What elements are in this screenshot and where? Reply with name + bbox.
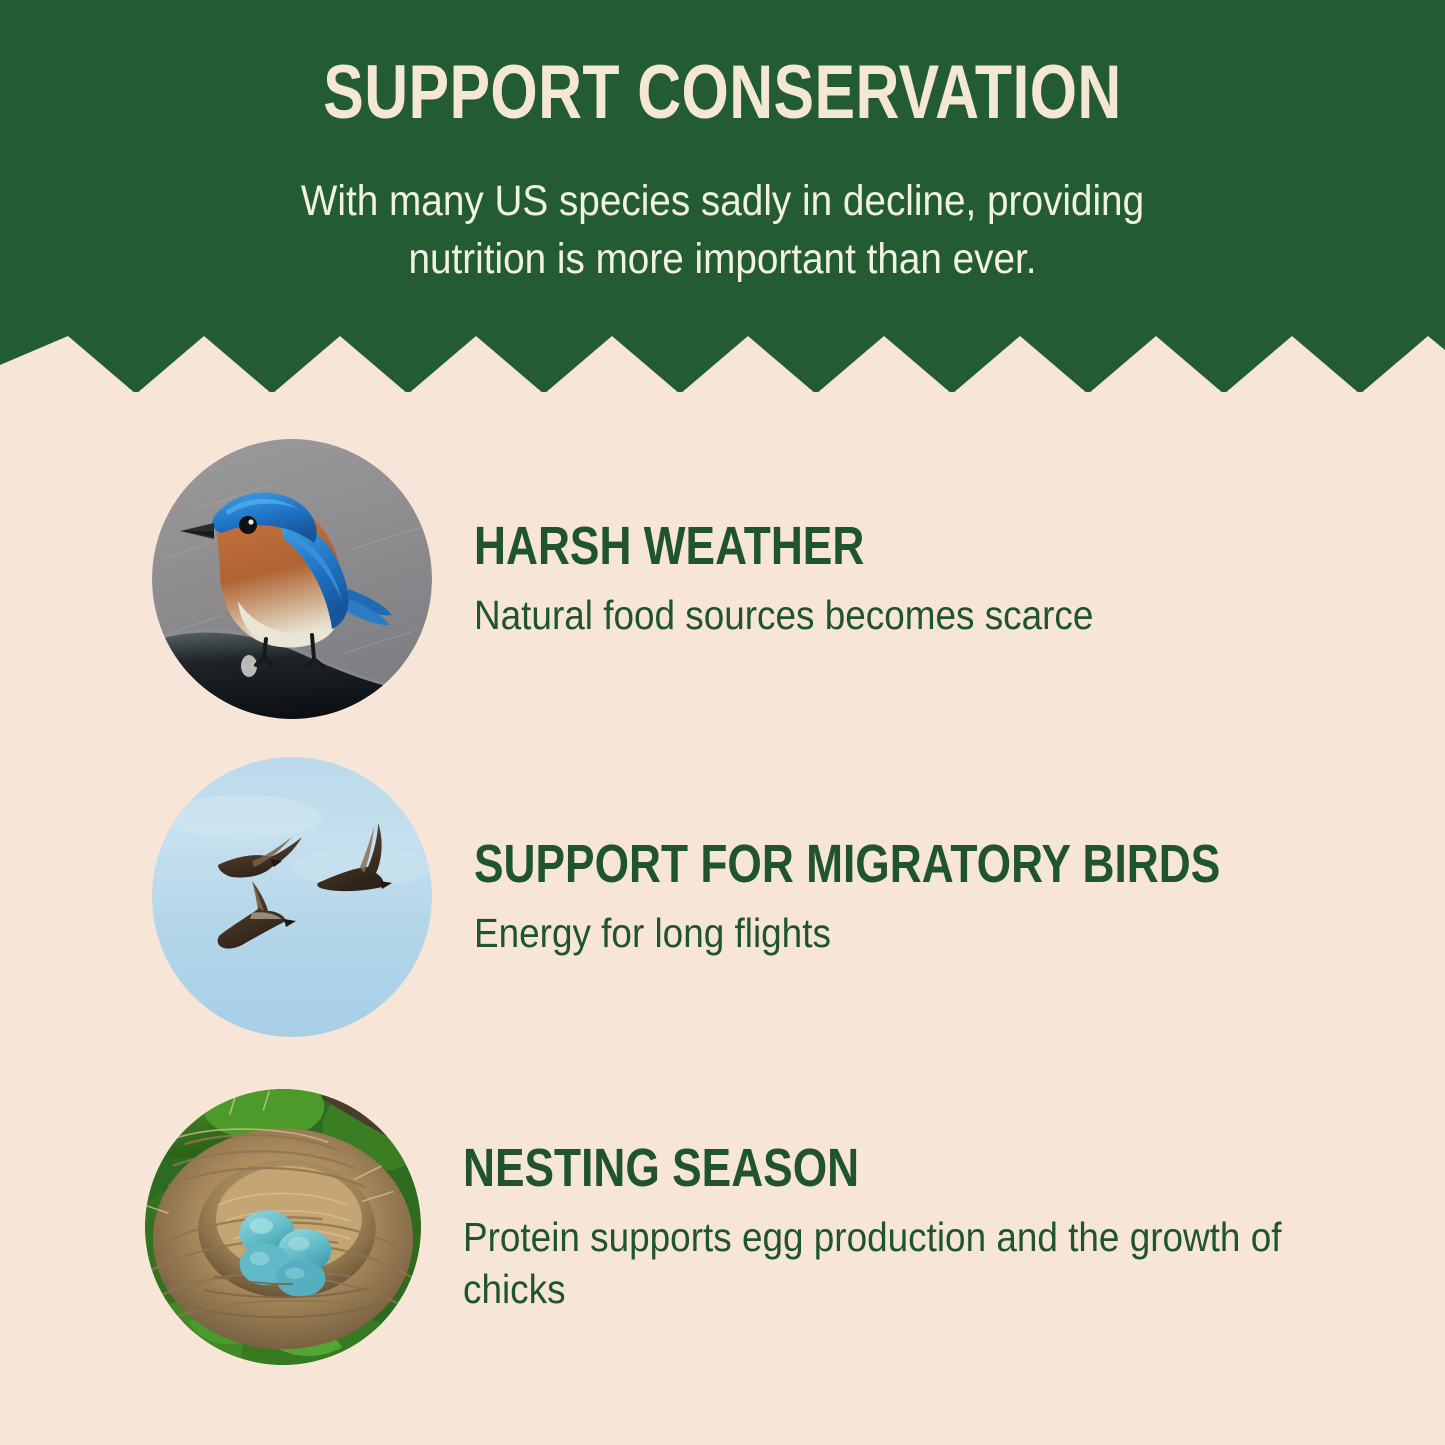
feature-row: HARSH WEATHER Natural food sources becom… [0, 434, 1445, 724]
three-birds-flying-in-blue-sky-icon [152, 757, 432, 1037]
feature-description: Natural food sources becomes scarce [474, 589, 1093, 641]
feature-row: SUPPORT FOR MIGRATORY BIRDS Energy for l… [0, 752, 1445, 1042]
feature-text-block: NESTING SEASON Protein supports egg prod… [463, 1139, 1445, 1315]
header-subtitle-line-2: nutrition is more important than ever. [72, 230, 1373, 288]
zigzag-divider-decoration [0, 336, 1445, 394]
feature-title: NESTING SEASON [463, 1139, 1235, 1197]
nest-photo-thumbnail [145, 1089, 421, 1365]
feature-list: HARSH WEATHER Natural food sources becom… [0, 392, 1445, 1445]
feature-text-block: HARSH WEATHER Natural food sources becom… [474, 517, 1202, 641]
bird-nest-with-blue-eggs-icon [145, 1089, 421, 1365]
feature-title: SUPPORT FOR MIGRATORY BIRDS [474, 835, 1220, 893]
feature-description: Protein supports egg production and the … [463, 1211, 1311, 1315]
header-subtitle: With many US species sadly in decline, p… [72, 172, 1373, 288]
feature-description: Energy for long flights [474, 907, 1293, 959]
bluebird-photo-thumbnail [152, 439, 432, 719]
header-subtitle-line-1: With many US species sadly in decline, p… [72, 172, 1373, 230]
page-title: SUPPORT CONSERVATION [145, 52, 1301, 134]
feature-title: HARSH WEATHER [474, 517, 1038, 575]
feature-row: NESTING SEASON Protein supports egg prod… [0, 1082, 1445, 1372]
header-banner: SUPPORT CONSERVATION With many US specie… [0, 0, 1445, 392]
bluebird-perched-on-branch-in-rain-icon [152, 439, 432, 719]
feature-text-block: SUPPORT FOR MIGRATORY BIRDS Energy for l… [474, 835, 1424, 959]
migratory-birds-photo-thumbnail [152, 757, 432, 1037]
